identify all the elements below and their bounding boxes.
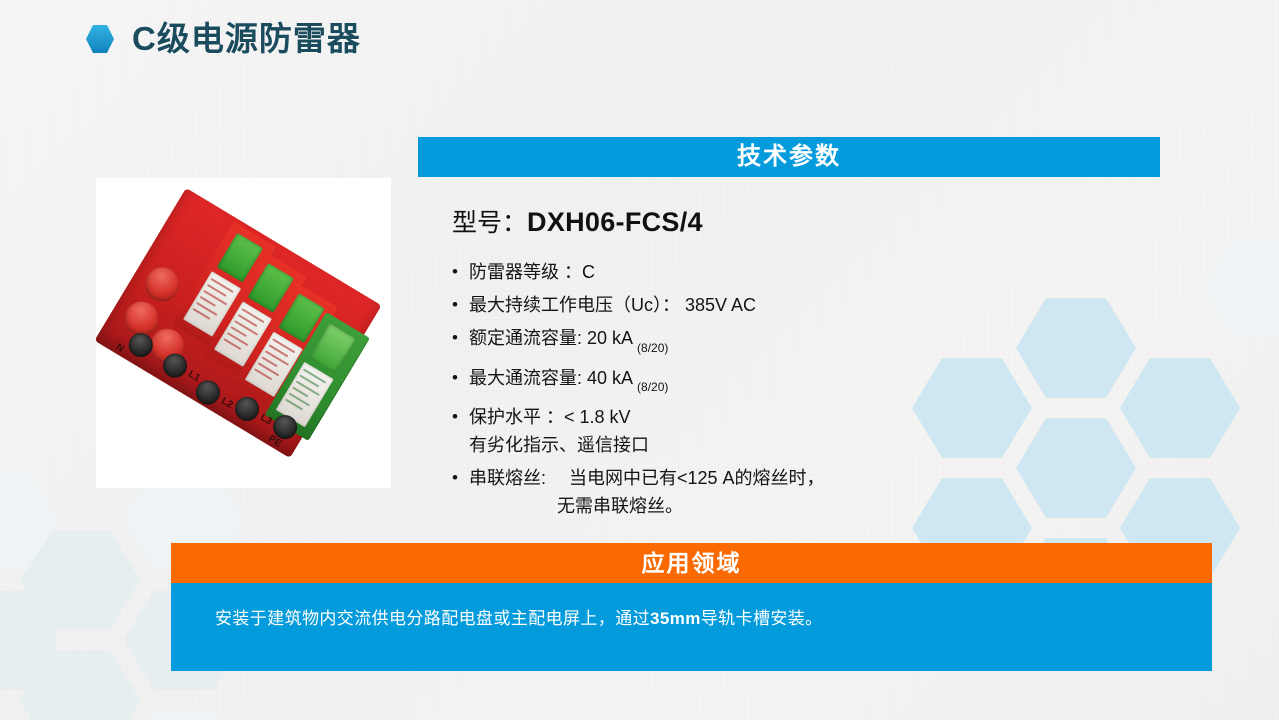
application-body: 安装于建筑物内交流供电分路配电盘或主配电屏上，通过35mm导轨卡槽安装。 — [171, 583, 1212, 671]
spec-text-line2: 有劣化指示、遥信接口 — [469, 431, 649, 459]
spec-text-group: 保护水平 ：< 1.8 kV 有劣化指示、遥信接口 — [469, 403, 649, 459]
tech-params-header-label: 技术参数 — [418, 137, 1160, 177]
hex-watermark — [1204, 236, 1279, 340]
hex-watermark — [1120, 356, 1240, 460]
spec-item: • 额定通流容量: 20 kA (8/20) — [452, 324, 1072, 359]
hexagon-icon — [86, 24, 114, 54]
spec-item: • 最大持续工作电压（Uc）： 385V AC — [452, 291, 1072, 319]
bullet-icon: • — [452, 403, 469, 431]
spec-text-line2: 无需串联熔丝。 — [469, 492, 825, 520]
spec-text: 防雷器等级 ：C — [469, 258, 595, 286]
page-title: C级电源防雷器 — [132, 22, 361, 55]
tech-params-header-bar: 技术参数 — [418, 137, 1160, 177]
bullet-icon: • — [452, 324, 469, 352]
spec-text: 保护水平 ：< 1.8 kV — [469, 403, 649, 431]
application-text-part1: 安装于建筑物内交流供电分路配电盘或主配电屏上，通过 — [215, 609, 650, 628]
application-text-part2: 导轨卡槽安装。 — [701, 609, 823, 628]
spec-subscript: (8/20) — [637, 380, 668, 394]
spec-item: • 最大通流容量: 40 kA (8/20) — [452, 364, 1072, 399]
slide-canvas: C级电源防雷器 — [0, 0, 1279, 720]
spec-item: • 保护水平 ：< 1.8 kV 有劣化指示、遥信接口 — [452, 403, 1072, 459]
bullet-icon: • — [452, 464, 469, 492]
spec-text: 串联熔丝: 当电网中已有<125 A的熔丝时， — [469, 464, 825, 492]
bullet-icon: • — [452, 258, 469, 286]
application-text: 安装于建筑物内交流供电分路配电盘或主配电屏上，通过35mm导轨卡槽安装。 — [215, 604, 823, 629]
spd-device: L1 L2 L3 PE N — [96, 188, 382, 458]
spd-status-window — [309, 323, 355, 373]
model-value: DXH06-FCS/4 — [527, 207, 703, 237]
spd-illustration: L1 L2 L3 PE N — [96, 178, 391, 488]
page-header: C级电源防雷器 — [86, 22, 361, 55]
spec-text: 最大持续工作电压（Uc）： 385V AC — [469, 291, 756, 319]
application-header-label: 应用领域 — [171, 543, 1212, 583]
application-text-bold: 35mm — [650, 609, 701, 628]
spec-item: • 防雷器等级 ：C — [452, 258, 1072, 286]
spec-text-main: 额定通流容量: 20 kA — [469, 328, 637, 348]
spec-text-group: 串联熔丝: 当电网中已有<125 A的熔丝时， 无需串联熔丝。 — [469, 464, 825, 520]
hex-watermark — [124, 708, 244, 720]
application-header-bar: 应用领域 — [171, 543, 1212, 583]
spec-item: • 串联熔丝: 当电网中已有<125 A的熔丝时， 无需串联熔丝。 — [452, 464, 1072, 520]
product-photo: L1 L2 L3 PE N — [96, 178, 391, 488]
model-line: 型号：DXH06-FCS/4 — [452, 203, 703, 239]
spec-text-main: 最大通流容量: 40 kA — [469, 368, 637, 388]
spec-text: 额定通流容量: 20 kA (8/20) — [469, 324, 668, 359]
model-label: 型号： — [452, 209, 527, 237]
spec-subscript: (8/20) — [637, 341, 668, 355]
bullet-icon: • — [452, 291, 469, 319]
spec-list: • 防雷器等级 ：C • 最大持续工作电压（Uc）： 385V AC • 额定通… — [452, 258, 1072, 525]
bullet-icon: • — [452, 364, 469, 392]
spec-text: 最大通流容量: 40 kA (8/20) — [469, 364, 668, 399]
